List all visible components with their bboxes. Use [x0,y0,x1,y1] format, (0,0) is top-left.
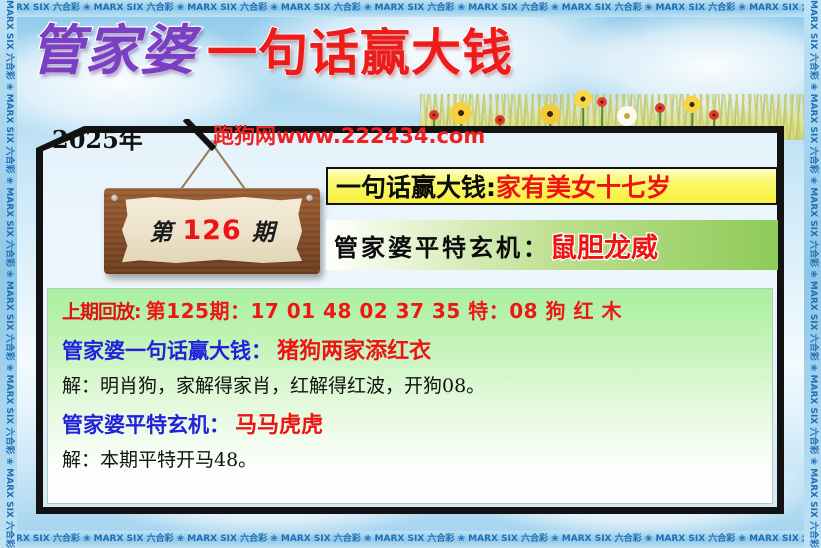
banner-ping-te-xuan-ji: 管家婆平特玄机： 鼠胆龙威 [326,220,778,270]
last-issue-recap-row: 上期回放: 第125期：17 01 48 02 37 35 特：08 狗 红 木 [62,301,760,322]
banner-label: 管家婆平特玄机： [334,228,550,263]
issue-number: 126 [182,215,241,246]
poster-canvas: 管家婆 一句话赢大钱 [0,0,821,548]
sign-hole-left-icon [111,194,118,201]
site-url-text[interactable]: 跑狗网www.222434.com [213,120,485,150]
section-value: 马马虎虎 [235,413,323,438]
section-label: 管家婆平特玄机： [62,413,230,437]
banner-value: 家有美女十七岁 [496,168,671,204]
border-bottom-text: MARX SIX 六合彩 ❀ MARX SIX 六合彩 ❀ MARX SIX 六… [0,531,821,548]
border-right: MARX SIX 六合彩 ❀ MARX SIX 六合彩 ❀ MARX SIX 六… [804,0,821,548]
border-right-text: MARX SIX 六合彩 ❀ MARX SIX 六合彩 ❀ MARX SIX 六… [804,0,821,548]
section-label: 管家婆一句话赢大钱： [62,339,272,363]
section-2-explanation: 解：本期平特开马48。 [62,451,760,470]
border-top-text: MARX SIX 六合彩 ❀ MARX SIX 六合彩 ❀ MARX SIX 六… [0,0,821,17]
issue-suffix: 期 [252,213,275,247]
title-brand: 管家婆 [30,24,195,78]
border-left-text: MARX SIX 六合彩 ❀ MARX SIX 六合彩 ❀ MARX SIX 六… [0,0,17,548]
title-slogan: 一句话赢大钱 [207,28,513,78]
border-bottom: MARX SIX 六合彩 ❀ MARX SIX 六合彩 ❀ MARX SIX 六… [0,531,821,548]
section-1-heading: 管家婆一句话赢大钱： 猪狗两家添红衣 [62,341,760,363]
banner-value: 鼠胆龙威 [550,226,658,265]
banner-label: 一句话赢大钱: [336,168,496,204]
year-notch-divider [183,119,217,153]
border-top: MARX SIX 六合彩 ❀ MARX SIX 六合彩 ❀ MARX SIX 六… [0,0,821,17]
recap-value: 第125期：17 01 48 02 37 35 特：08 狗 红 木 [146,299,622,323]
content-panel: 上期回放: 第125期：17 01 48 02 37 35 特：08 狗 红 木… [47,288,773,504]
issue-hanging-sign: 第 126 期 [104,140,320,290]
section-value: 猪狗两家添红衣 [277,339,431,364]
year-label: 2025年 [52,120,143,155]
sign-paper: 第 126 期 [122,197,302,263]
cloud-decoration [560,10,821,120]
border-left: MARX SIX 六合彩 ❀ MARX SIX 六合彩 ❀ MARX SIX 六… [0,0,17,548]
page-title: 管家婆 一句话赢大钱 [30,24,513,78]
banner-yi-ju-hua-ying-da-qian: 一句话赢大钱: 家有美女十七岁 [326,167,778,205]
section-1-explanation: 解：明肖狗，家解得家肖，红解得红波，开狗08。 [62,377,760,396]
sign-board: 第 126 期 [104,188,320,274]
sign-hole-right-icon [306,194,313,201]
issue-prefix: 第 [149,213,172,247]
recap-label: 上期回放: [62,301,141,323]
section-2-heading: 管家婆平特玄机： 马马虎虎 [62,415,760,437]
